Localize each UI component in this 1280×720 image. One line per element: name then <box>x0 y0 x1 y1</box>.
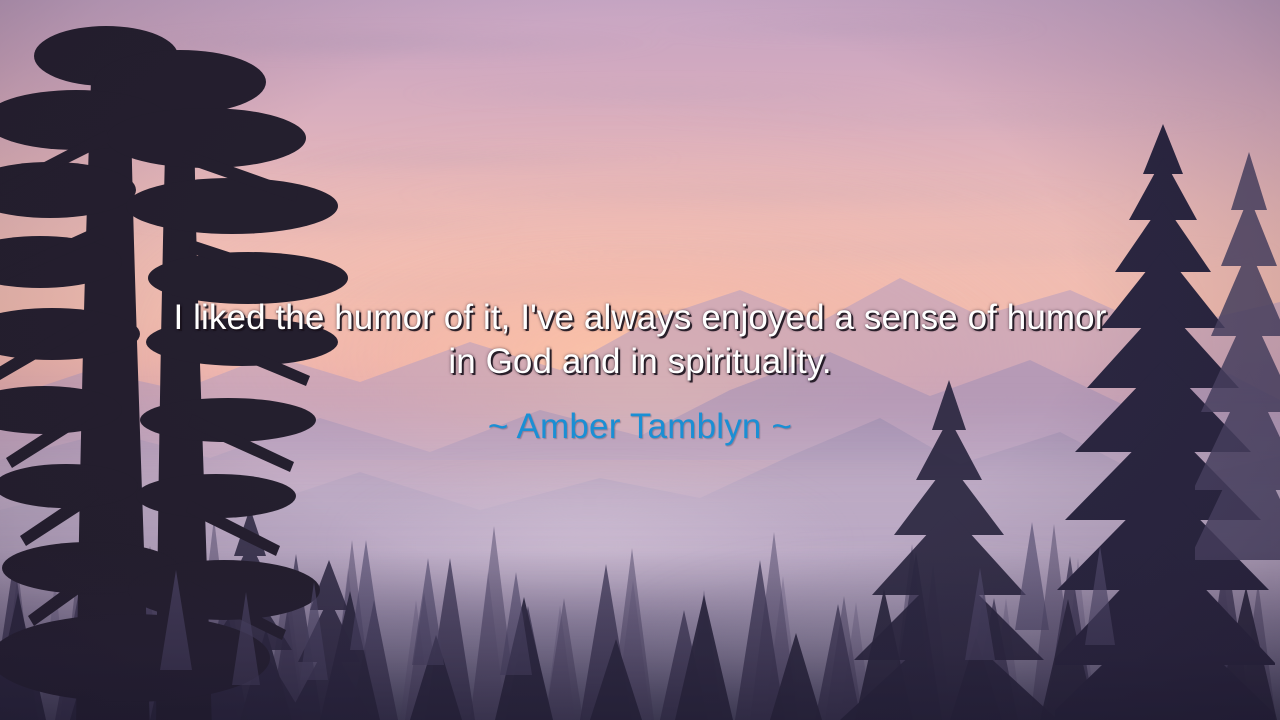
background-conifer-cluster <box>0 430 1280 720</box>
author-attribution: ~ Amber Tamblyn ~ <box>80 406 1200 448</box>
quote-image-canvas: I liked the humor of it, I've always enj… <box>0 0 1280 720</box>
quote-text: I liked the humor of it, I've always enj… <box>80 296 1200 384</box>
quote-block: I liked the humor of it, I've always enj… <box>80 296 1200 448</box>
